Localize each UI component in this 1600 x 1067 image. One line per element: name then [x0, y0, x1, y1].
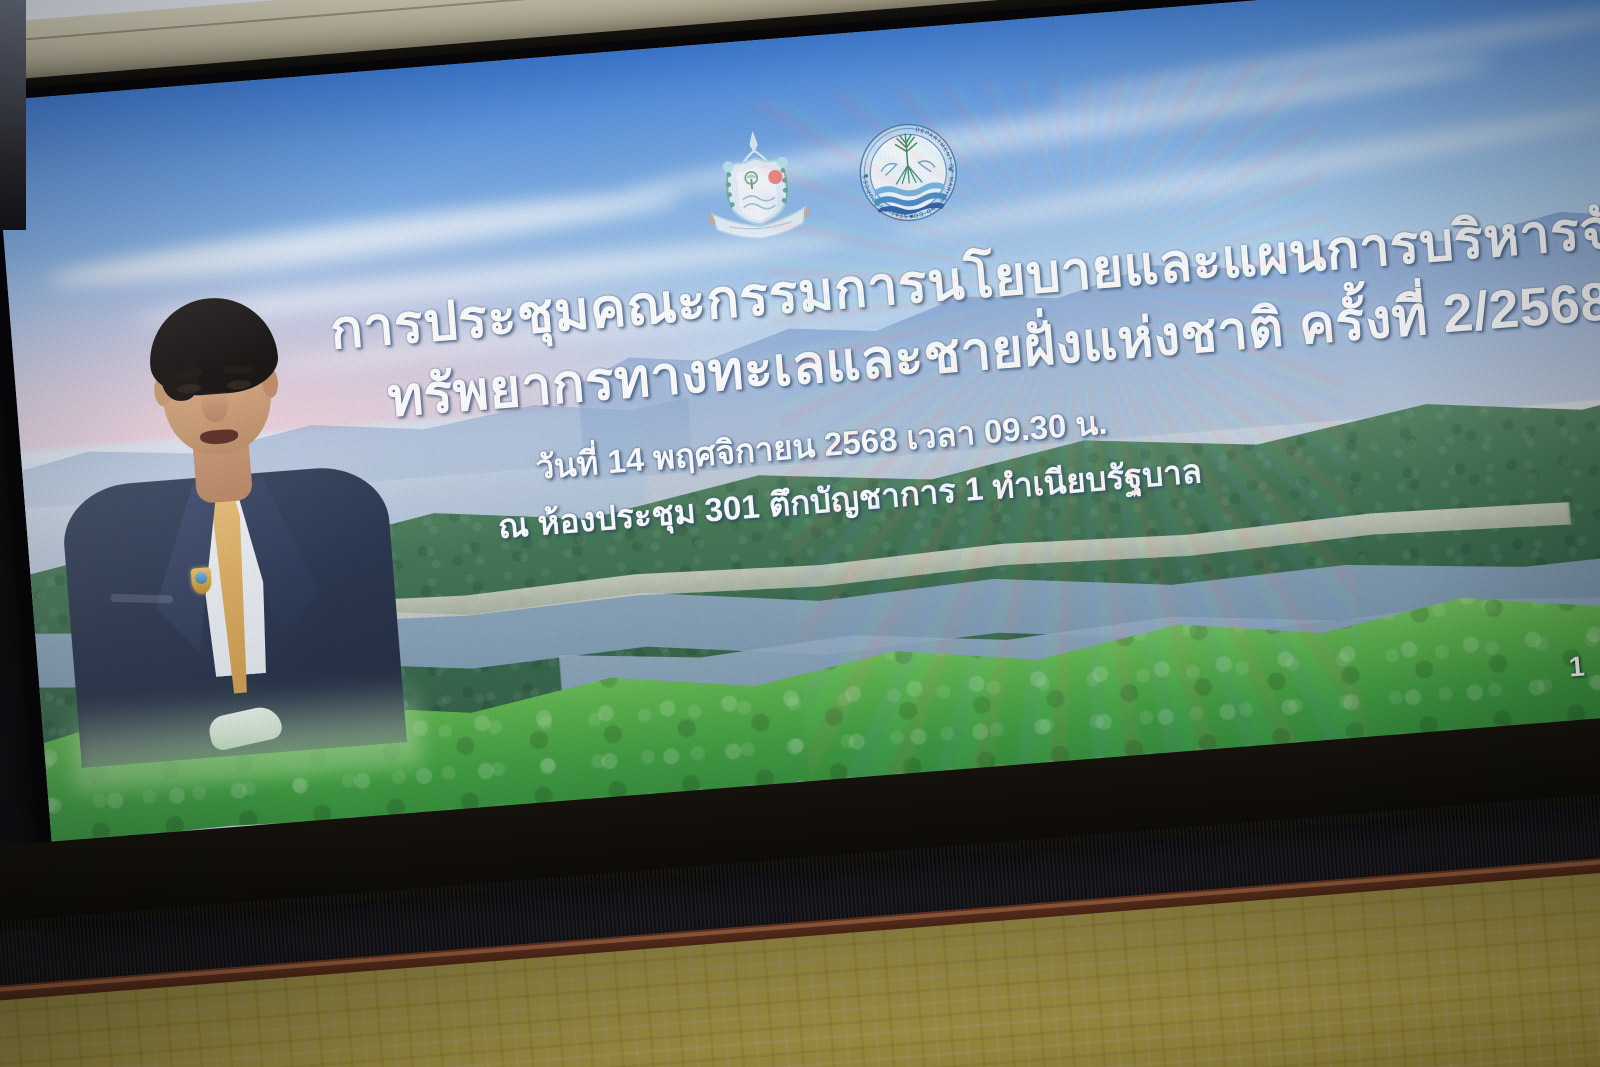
screenshot-stage: DEPARTMENT OF MARINE AND COASTAL RESOURC…: [0, 0, 1600, 1067]
speaker-portrait: [42, 267, 408, 762]
presentation-slide: DEPARTMENT OF MARINE AND COASTAL RESOURC…: [0, 0, 1600, 858]
jacket-pocket: [111, 594, 173, 604]
eyebrow-right: [223, 366, 253, 373]
ministry-emblem-icon: [698, 124, 817, 244]
left-wall-edge: [0, 0, 26, 230]
hair: [145, 293, 280, 399]
dmcr-seal-icon: DEPARTMENT OF MARINE AND COASTAL RESOURC…: [853, 118, 963, 228]
slide-logos: DEPARTMENT OF MARINE AND COASTAL RESOURC…: [698, 113, 964, 245]
